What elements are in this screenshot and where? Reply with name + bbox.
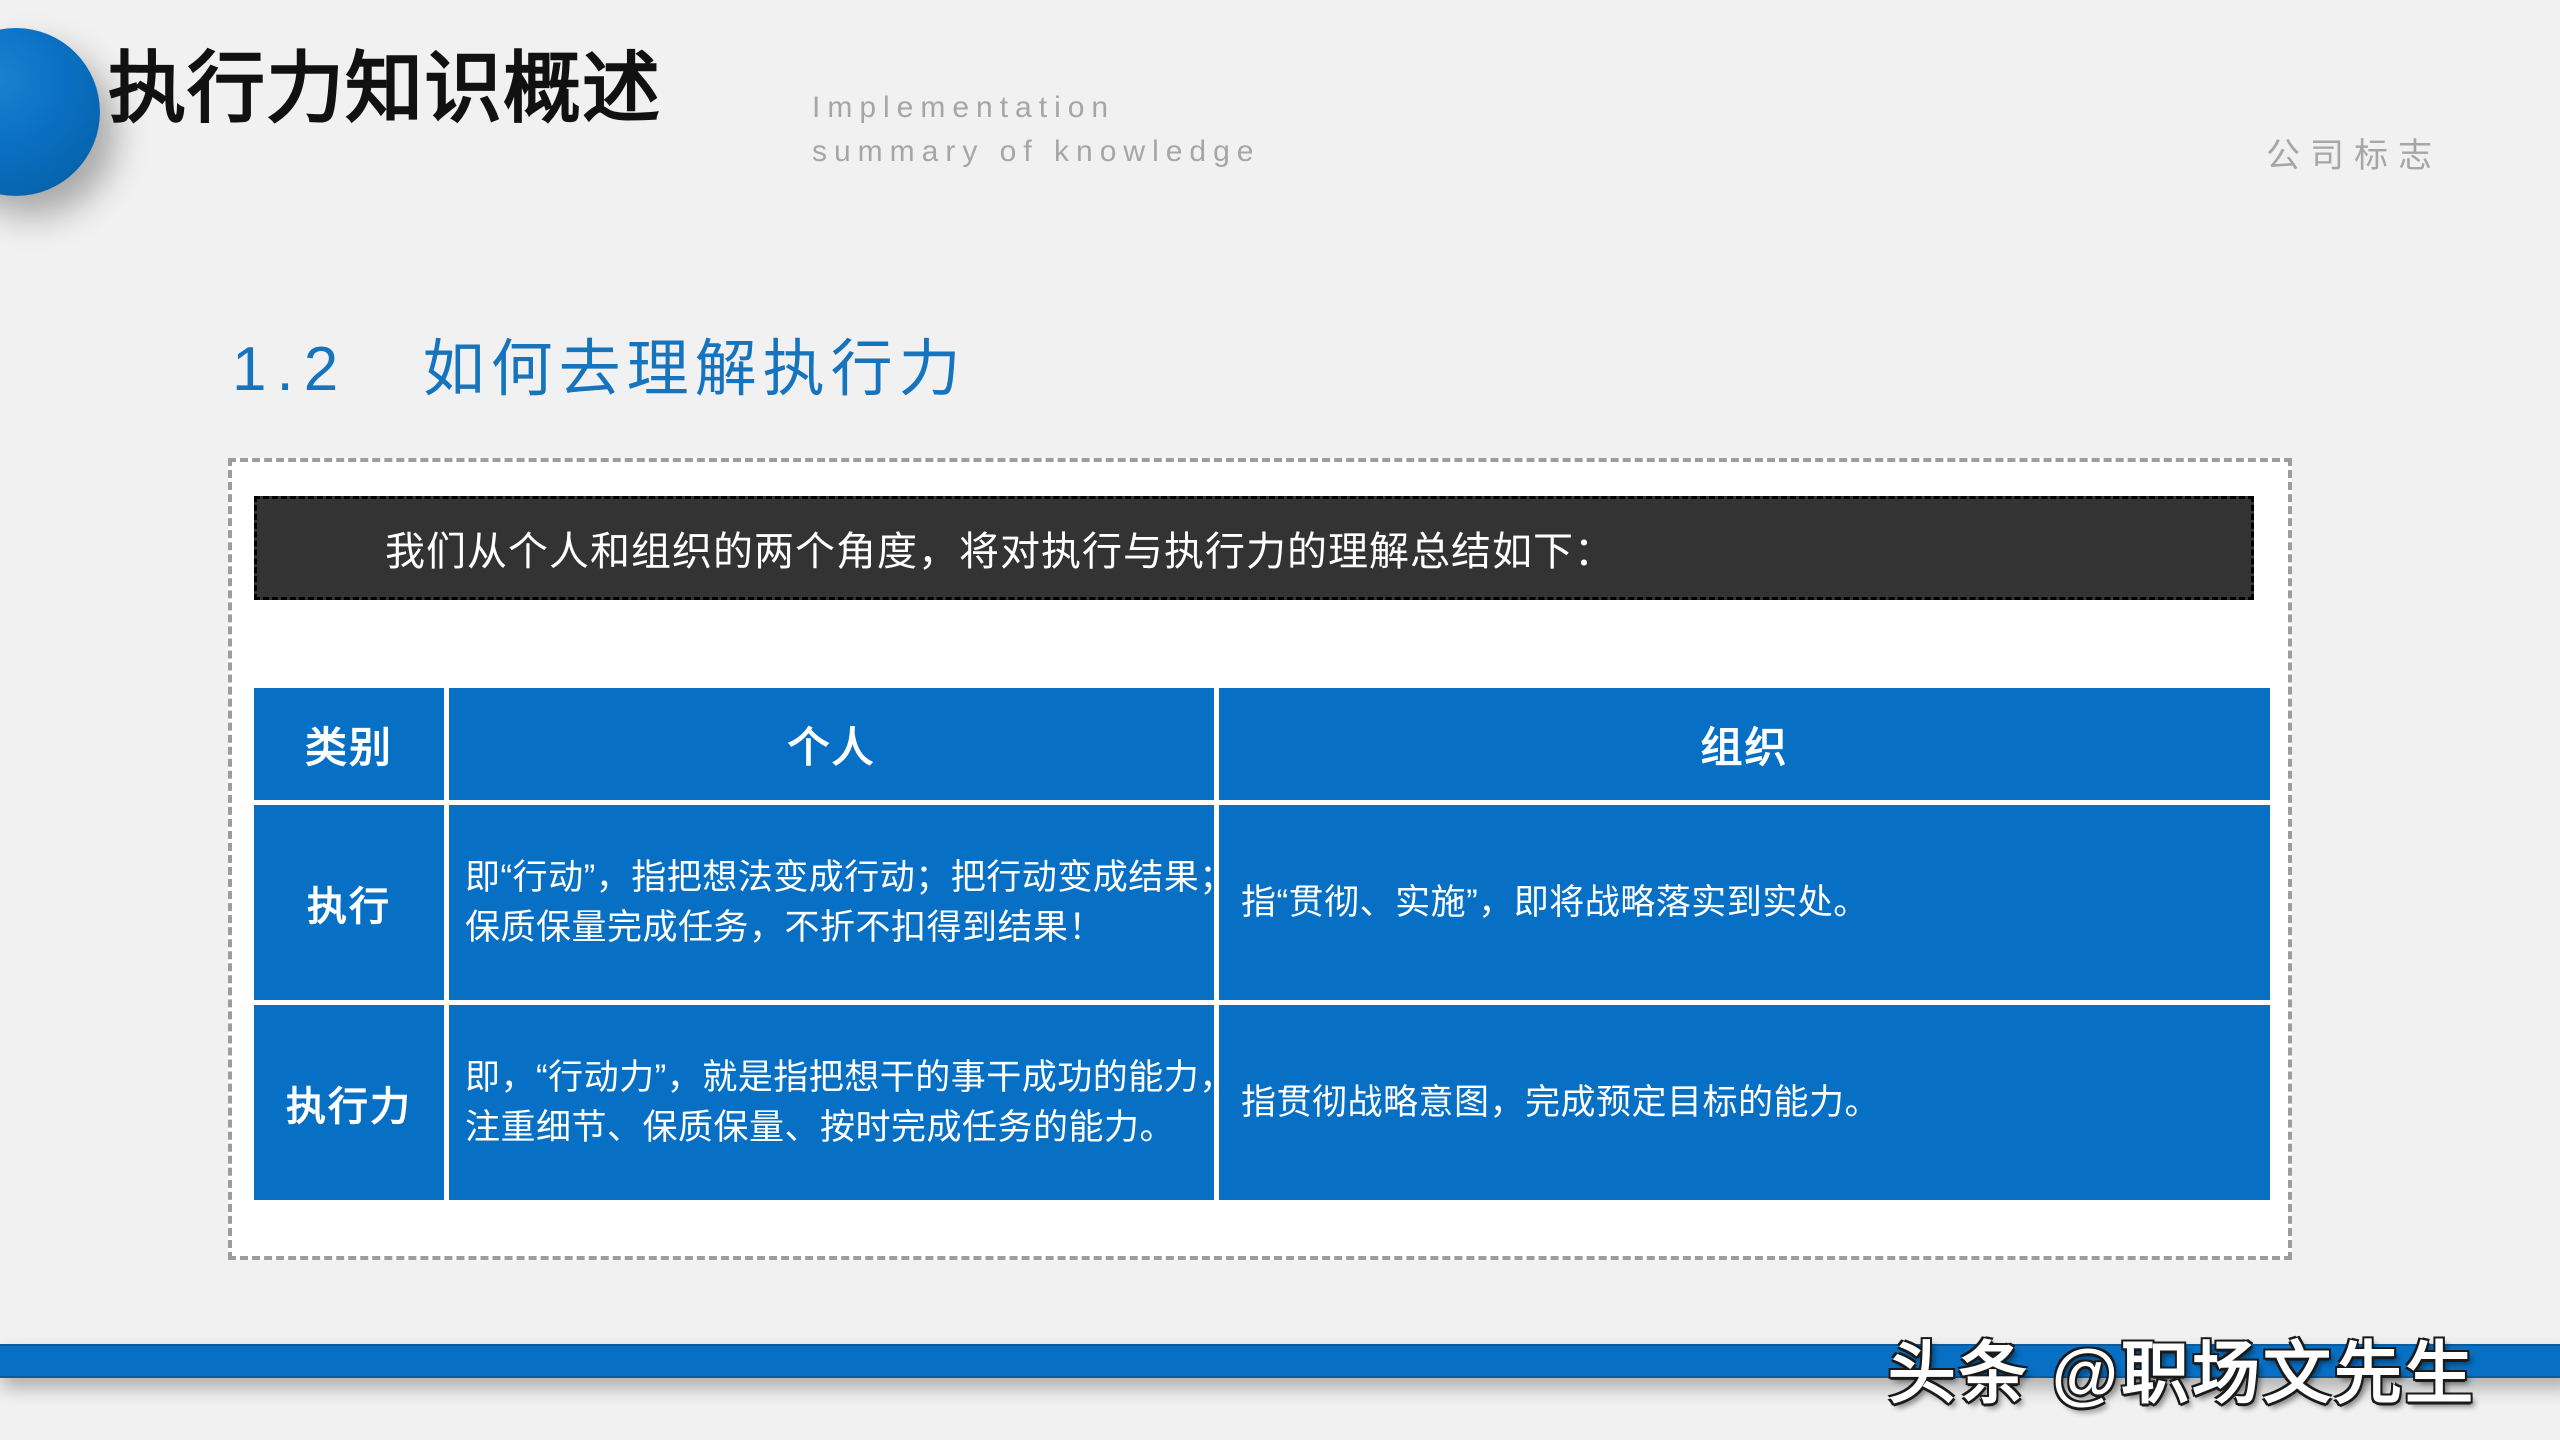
table-cell-category-label: 执行 <box>254 874 444 932</box>
table-cell-organization-text: 指贯彻战略意图，完成预定目标的能力。 <box>1219 1078 1880 1128</box>
table-cell-organization-text: 指“贯彻、实施”，即将战略落实到实处。 <box>1219 878 1869 928</box>
table-cell-individual-text: 即“行动”，指把想法变成行动；把行动变成结果； 保质保量完成任务，不折不扣得到结… <box>449 853 1235 952</box>
table-header-label: 组织 <box>1219 714 2270 775</box>
header-subtitle-line-1: Implementation <box>812 86 1260 130</box>
watermark-text: 头条 @职场文先生 <box>1888 1318 2476 1417</box>
table-header-cell-category: 类别 <box>254 688 444 800</box>
header-subtitle-line-2: summary of knowledge <box>812 130 1260 174</box>
table-cell-individual-text: 即，“行动力”，就是指把想干的事干成功的能力， 注重细节、保质保量、按时完成任务… <box>449 1053 1235 1152</box>
table-cell-organization: 指贯彻战略意图，完成预定目标的能力。 <box>1214 1000 2270 1200</box>
table-header-cell-organization: 组织 <box>1214 688 2270 800</box>
table-cell-category-label: 执行力 <box>254 1074 444 1132</box>
table-row: 执行 即“行动”，指把想法变成行动；把行动变成结果； 保质保量完成任务，不折不扣… <box>254 800 2270 1000</box>
section-title: 如何去理解执行力 <box>423 335 967 404</box>
table-header-row: 类别 个人 组织 <box>254 688 2270 800</box>
company-logo-placeholder: 公司标志 <box>2266 128 2442 177</box>
statement-banner: 我们从个人和组织的两个角度，将对执行与执行力的理解总结如下： <box>254 496 2254 600</box>
section-number: 1.2 <box>232 335 348 404</box>
slide-header: 执行力知识概述 Implementation summary of knowle… <box>0 0 2560 230</box>
table-cell-category: 执行力 <box>254 1000 444 1200</box>
table-cell-category: 执行 <box>254 800 444 1000</box>
table-cell-individual: 即“行动”，指把想法变成行动；把行动变成结果； 保质保量完成任务，不折不扣得到结… <box>444 800 1214 1000</box>
circle-bullet-icon <box>0 28 100 196</box>
statement-text: 我们从个人和组织的两个角度，将对执行与执行力的理解总结如下： <box>257 519 1615 577</box>
comparison-table: 类别 个人 组织 执行 即“行动”，指把想法变成行动；把行动变成结果； 保质保量… <box>254 688 2270 1218</box>
table-cell-individual: 即，“行动力”，就是指把想干的事干成功的能力， 注重细节、保质保量、按时完成任务… <box>444 1000 1214 1200</box>
text-line: 注重细节、保质保量、按时完成任务的能力。 <box>465 1103 1235 1153</box>
text-line: 即，“行动力”，就是指把想干的事干成功的能力， <box>465 1053 1235 1103</box>
table-cell-organization: 指“贯彻、实施”，即将战略落实到实处。 <box>1214 800 2270 1000</box>
content-frame: 我们从个人和组织的两个角度，将对执行与执行力的理解总结如下： 类别 个人 组织 … <box>228 458 2292 1260</box>
text-line: 即“行动”，指把想法变成行动；把行动变成结果； <box>465 853 1235 903</box>
table-header-cell-individual: 个人 <box>444 688 1214 800</box>
slide-canvas: 执行力知识概述 Implementation summary of knowle… <box>0 0 2560 1440</box>
page-title: 执行力知识概述 <box>108 48 661 130</box>
table-header-label: 个人 <box>449 714 1214 775</box>
table-header-label: 类别 <box>254 714 444 775</box>
section-heading: 1.2 如何去理解执行力 <box>232 318 967 408</box>
header-subtitle: Implementation summary of knowledge <box>812 86 1260 173</box>
text-line: 保质保量完成任务，不折不扣得到结果！ <box>465 903 1235 953</box>
table-row: 执行力 即，“行动力”，就是指把想干的事干成功的能力， 注重细节、保质保量、按时… <box>254 1000 2270 1200</box>
